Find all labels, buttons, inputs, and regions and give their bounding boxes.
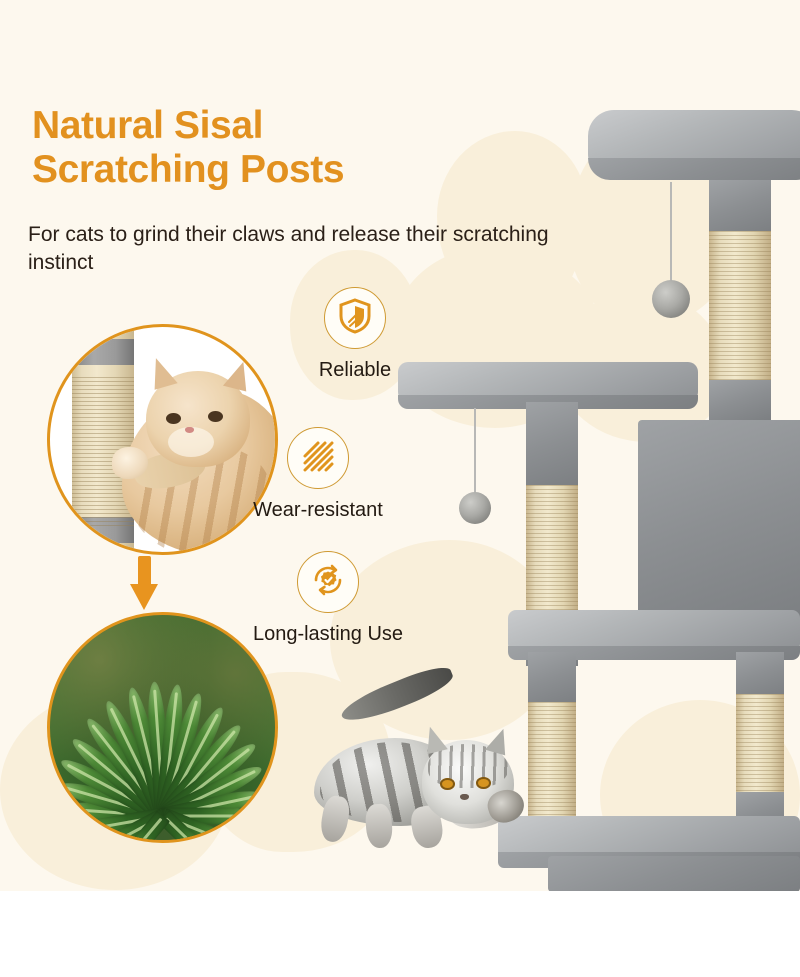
content-panel: Natural Sisal Scratching Posts For cats … — [0, 0, 800, 891]
hatch-stripes-icon — [302, 440, 334, 477]
feature-item-reliable: Reliable — [235, 287, 475, 382]
feature-item-wear-resistant: Wear-resistant — [198, 427, 438, 522]
cat-tree-post-collar — [709, 180, 771, 232]
headline-line-2: Scratching Posts — [32, 148, 502, 192]
shield-icon — [338, 298, 372, 339]
page-title: Natural Sisal Scratching Posts — [32, 104, 502, 192]
cat-tree-post-collar — [709, 380, 771, 420]
kitten-eye — [476, 777, 491, 789]
feature-icon-ring — [324, 287, 386, 349]
orange-cat-eye — [166, 413, 181, 424]
playful-kitten-image — [300, 678, 530, 868]
kitten-ear — [485, 726, 512, 756]
gear-refresh-check-icon — [310, 562, 346, 603]
cat-tree-top-perch-edge — [588, 158, 800, 180]
page-subtitle: For cats to grind their claws and releas… — [28, 221, 573, 276]
orange-cat-eye — [208, 411, 223, 422]
feature-icon-ring — [297, 551, 359, 613]
cat-tree-base-board — [548, 856, 800, 891]
orange-cat-ear — [146, 354, 177, 389]
kitten-eye — [440, 778, 455, 790]
feature-label: Long-lasting Use — [208, 623, 448, 646]
feature-icon-ring — [287, 427, 349, 489]
sisal-scratching-post — [528, 702, 576, 832]
cat-tree-post-collar — [736, 652, 784, 696]
kitten-leg — [364, 803, 393, 849]
sisal-scratching-post — [736, 694, 784, 794]
pompom-ball — [652, 280, 690, 318]
sisal-scratching-post — [709, 231, 771, 381]
cat-tree-post-collar — [526, 402, 578, 486]
feature-label: Reliable — [235, 359, 475, 382]
pompom-string — [474, 408, 476, 496]
down-arrow-icon — [130, 556, 158, 612]
cat-tree-post-collar — [528, 652, 576, 704]
sisal-scratching-post — [526, 485, 578, 625]
hanging-pompom-toy — [651, 182, 691, 322]
product-feature-banner: Natural Sisal Scratching Posts For cats … — [0, 0, 800, 977]
hanging-pompom-toy — [455, 408, 495, 538]
headline-line-1: Natural Sisal — [32, 104, 502, 148]
orange-cat-nose — [185, 427, 194, 433]
pompom-ball — [459, 492, 491, 524]
kitten-nose — [460, 794, 469, 800]
pompom-string — [670, 182, 672, 284]
feature-label: Wear-resistant — [198, 499, 438, 522]
cat-tree-condo-box — [638, 420, 800, 620]
sisal-plant-photo — [47, 612, 278, 843]
feature-item-long-lasting-use: Long-lasting Use — [208, 551, 448, 646]
